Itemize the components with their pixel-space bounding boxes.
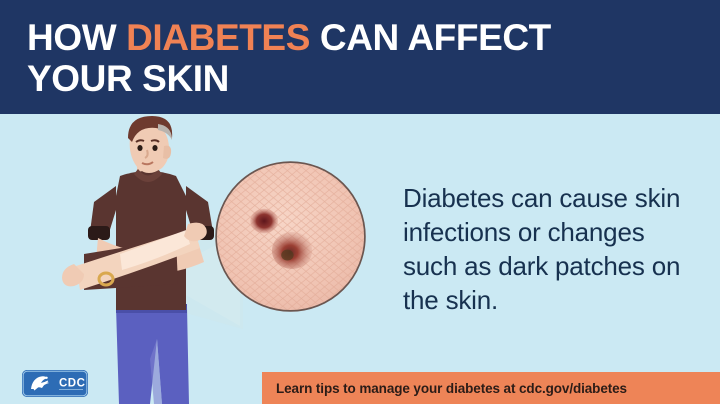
dark-patch-center: [272, 232, 312, 269]
description-text: Diabetes can cause skin infections or ch…: [403, 181, 703, 317]
eye-right: [152, 145, 157, 151]
dark-patch-center-core: [281, 250, 293, 261]
cdc-logo-svg: CDC: [22, 370, 88, 397]
magnifier-svg: [213, 159, 368, 314]
infographic-poster: HOW DIABETES CAN AFFECTYOUR SKIN: [0, 0, 720, 404]
footer-banner[interactable]: Learn tips to manage your diabetes at cd…: [262, 372, 720, 404]
footer-link-text[interactable]: Learn tips to manage your diabetes at cd…: [262, 381, 627, 396]
title-segment-your-skin: YOUR SKIN: [27, 58, 229, 99]
cdc-logo-text: CDC: [59, 378, 85, 390]
page-title: HOW DIABETES CAN AFFECTYOUR SKIN: [27, 17, 687, 99]
ear: [163, 146, 171, 159]
dark-patch-upper: [250, 209, 278, 234]
title-segment-how: HOW: [27, 17, 126, 58]
eagle-head: [45, 377, 47, 379]
cdc-logo-underline: [59, 389, 83, 390]
header-band: HOW DIABETES CAN AFFECTYOUR SKIN: [0, 0, 720, 114]
magnifier-circle: [213, 159, 368, 314]
title-segment-can-affect: CAN AFFECT: [310, 17, 551, 58]
title-segment-diabetes: DIABETES: [126, 17, 310, 58]
cdc-logo[interactable]: CDC: [22, 370, 88, 397]
eye-left: [137, 145, 142, 151]
sleeve-cuff-left: [88, 226, 110, 240]
